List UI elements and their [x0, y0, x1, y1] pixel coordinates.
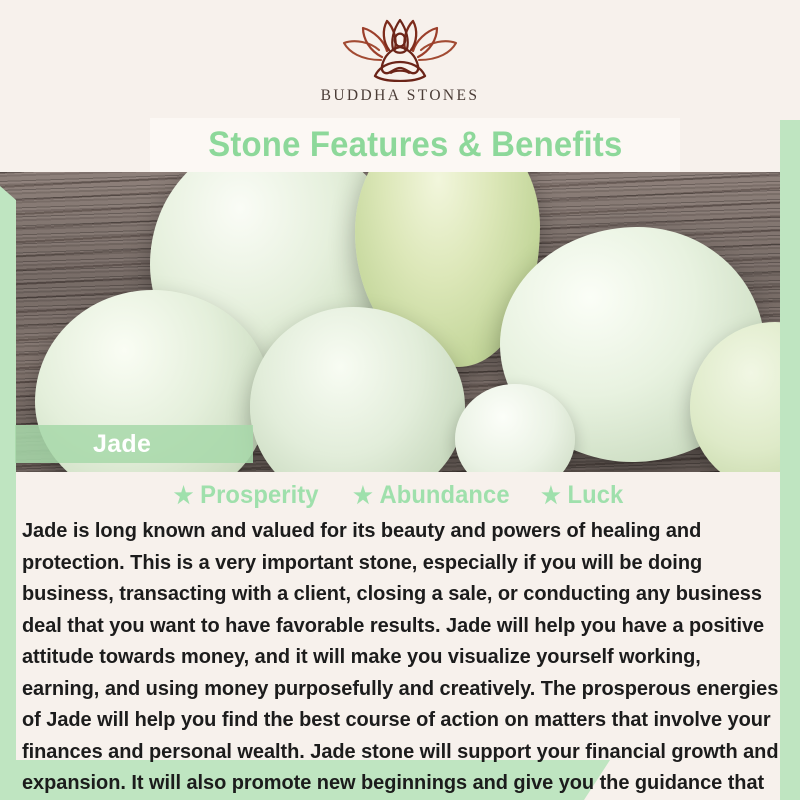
benefit-prosperity: ★ Prosperity — [174, 481, 319, 510]
brand-logo: BUDDHA STONES — [321, 16, 480, 105]
benefit-label: Prosperity — [200, 481, 318, 510]
lotus-meditation-icon — [341, 16, 459, 82]
star-icon: ★ — [542, 484, 562, 507]
page-title: Stone Features & Benefits — [208, 125, 622, 165]
decor-strip-right — [780, 0, 800, 800]
benefit-abundance: ★ Abundance — [353, 481, 510, 510]
stone-name-banner: Jade — [15, 425, 253, 463]
stone-description: Jade is long known and valued for its be… — [22, 515, 779, 800]
infographic-page: BUDDHA STONES Stone Features & Benefits … — [0, 0, 800, 800]
stone-name: Jade — [93, 430, 151, 459]
star-icon: ★ — [353, 484, 373, 507]
brand-name: BUDDHA STONES — [321, 87, 480, 105]
benefit-label: Luck — [568, 481, 624, 510]
brand-header: BUDDHA STONES — [0, 0, 800, 120]
decor-strip-left — [0, 200, 16, 800]
content-section: ★ Prosperity ★ Abundance ★ Luck Jade is … — [16, 472, 780, 760]
benefits-row: ★ Prosperity ★ Abundance ★ Luck — [22, 478, 774, 512]
star-icon: ★ — [174, 484, 194, 507]
page-title-panel: Stone Features & Benefits — [150, 118, 680, 172]
benefit-luck: ★ Luck — [542, 481, 624, 510]
benefit-label: Abundance — [379, 481, 509, 510]
